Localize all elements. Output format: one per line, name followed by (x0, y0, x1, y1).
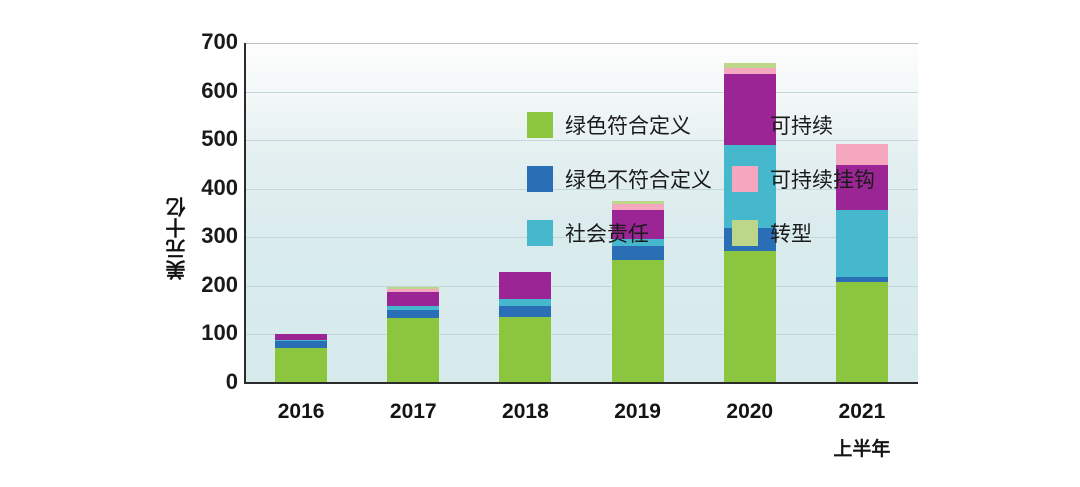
x-tick-label-main: 2016 (278, 400, 325, 423)
bar-segment-绿色符合定义 (724, 251, 776, 383)
bar-segment-可持续 (387, 292, 439, 306)
legend-item-可持续挂钩[interactable]: 可持续挂钩 (732, 164, 907, 194)
gridline (245, 286, 918, 287)
y-tick-label: 700 (178, 29, 238, 55)
legend-label: 绿色符合定义 (565, 110, 691, 140)
legend-item-可持续[interactable]: 可持续 (732, 110, 907, 140)
bar-segment-绿色不符合定义 (387, 310, 439, 319)
gridline (245, 43, 918, 44)
x-tick-label-main: 2020 (726, 400, 773, 423)
y-tick-label: 300 (178, 223, 238, 249)
y-tick-label: 100 (178, 320, 238, 346)
legend-label: 转型 (770, 218, 812, 248)
y-tick-label: 200 (178, 272, 238, 298)
legend-row: 绿色符合定义可持续 (527, 98, 907, 152)
x-tick-label-2021: 2021上半年 (802, 400, 922, 461)
bar-2016 (275, 334, 327, 383)
gridline (245, 334, 918, 335)
bar-segment-绿色不符合定义 (499, 306, 551, 317)
bar-segment-绿色不符合定义 (275, 341, 327, 348)
x-tick-label-main: 2017 (390, 400, 437, 423)
x-tick-label-2016: 2016 (241, 400, 361, 424)
legend-label: 可持续挂钩 (770, 164, 875, 194)
legend-label: 绿色不符合定义 (565, 164, 712, 194)
bar-2018 (499, 272, 551, 383)
bar-2017 (387, 287, 439, 383)
bar-segment-绿色符合定义 (275, 348, 327, 383)
x-tick-label-2017: 2017 (353, 400, 473, 424)
y-tick-label: 400 (178, 175, 238, 201)
x-tick-label-2019: 2019 (578, 400, 698, 424)
plot-area: 绿色符合定义可持续绿色不符合定义可持续挂钩社会责任转型 (245, 43, 918, 383)
y-tick-label: 600 (178, 78, 238, 104)
chart-figure: 美元十亿 7006005004003002001000 绿色符合定义可持续绿色不… (0, 0, 1080, 487)
bar-segment-绿色符合定义 (612, 260, 664, 383)
legend-item-绿色不符合定义[interactable]: 绿色不符合定义 (527, 164, 732, 194)
gridline (245, 92, 918, 93)
bar-segment-可持续 (499, 272, 551, 299)
y-tick-label: 0 (178, 369, 238, 395)
y-tick-label: 500 (178, 126, 238, 152)
x-tick-label-main: 2018 (502, 400, 549, 423)
legend-swatch-icon (527, 112, 553, 138)
bar-segment-绿色符合定义 (387, 318, 439, 383)
legend-item-转型[interactable]: 转型 (732, 218, 907, 248)
legend-item-社会责任[interactable]: 社会责任 (527, 218, 732, 248)
legend-item-绿色符合定义[interactable]: 绿色符合定义 (527, 110, 732, 140)
x-tick-label-2018: 2018 (465, 400, 585, 424)
x-tick-label-sub: 上半年 (802, 434, 922, 461)
legend-swatch-icon (527, 220, 553, 246)
x-tick-label-main: 2021 (839, 400, 886, 423)
x-tick-label-2020: 2020 (690, 400, 810, 424)
legend-label: 社会责任 (565, 218, 649, 248)
y-axis-line (244, 43, 246, 384)
legend-swatch-icon (732, 112, 758, 138)
bar-segment-绿色符合定义 (836, 282, 888, 383)
x-tick-label-main: 2019 (614, 400, 661, 423)
chart-legend: 绿色符合定义可持续绿色不符合定义可持续挂钩社会责任转型 (527, 98, 907, 260)
x-axis-line (245, 382, 918, 384)
bar-segment-社会责任 (499, 299, 551, 306)
legend-swatch-icon (732, 166, 758, 192)
bar-segment-绿色符合定义 (499, 317, 551, 383)
legend-label: 可持续 (770, 110, 833, 140)
legend-swatch-icon (527, 166, 553, 192)
legend-row: 社会责任转型 (527, 206, 907, 260)
legend-row: 绿色不符合定义可持续挂钩 (527, 152, 907, 206)
legend-swatch-icon (732, 220, 758, 246)
